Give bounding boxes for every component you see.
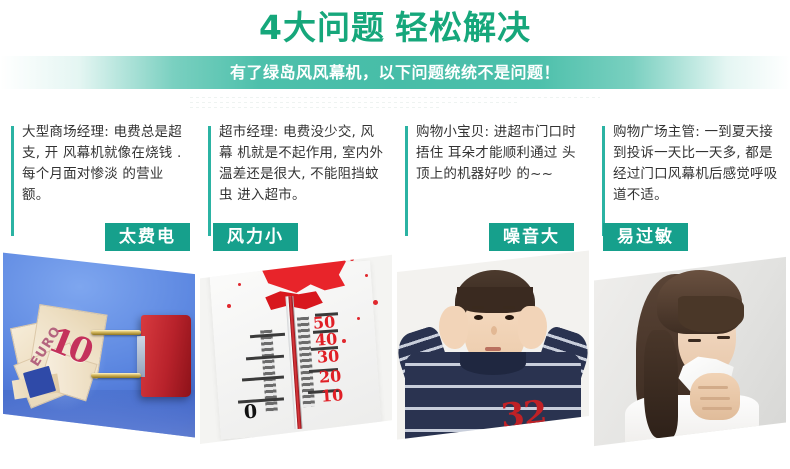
boy-shirt-collar <box>460 352 525 376</box>
page-title: 4大问题轻松解决 <box>0 6 790 50</box>
boy-eye-left <box>474 315 483 320</box>
boy-eyebrow-right <box>503 306 515 309</box>
red-plug-body <box>141 315 191 397</box>
quote-text-2: 超市经理: 电费没少交, 风幕 机就是不起作用, 室内外温差还是很大, 不能阻挡… <box>219 122 385 206</box>
finger-line <box>700 397 731 400</box>
thermometer-with-red-splash-photo: 50 40 30 20 10 0 <box>200 244 392 459</box>
boy-covering-ears-photo: 32 <box>397 244 589 459</box>
photo-tile-3: 32 <box>397 244 589 459</box>
photo-tile-4 <box>594 244 786 459</box>
splash-droplet <box>254 266 256 268</box>
boy-eyebrow-left <box>472 306 484 309</box>
problem-column-1: 大型商场经理: 电费总是超支, 开 风幕机就像在烧钱 .每个月面对惨淡 的营业额… <box>0 118 197 469</box>
scale-label-20: 20 <box>318 366 342 387</box>
problem-column-4: 购物广场主管: 一到夏天接到投诉一天比一天多, 都是经过门口风幕机后感觉呼吸道不… <box>591 118 788 469</box>
column-rule-2 <box>208 126 211 236</box>
quote-text-1: 大型商场经理: 电费总是超支, 开 风幕机就像在烧钱 .每个月面对惨淡 的营业额… <box>22 122 188 206</box>
finger-line <box>698 386 729 389</box>
decorative-dashed-lines <box>190 97 600 115</box>
problem-column-2: 超市经理: 电费没少交, 风幕 机就是不起作用, 室内外温差还是很大, 不能阻挡… <box>197 118 394 469</box>
boy-eye-right <box>505 315 514 320</box>
page-title-secondary: 轻松解决 <box>395 8 531 47</box>
column-rule-4 <box>602 126 605 236</box>
euro-money-and-red-plug-photo: 10 EURO <box>3 244 195 459</box>
scale-label-30: 30 <box>316 346 340 367</box>
dashed-line-1 <box>190 97 600 98</box>
quote-text-4: 购物广场主管: 一到夏天接到投诉一天比一天多, 都是经过门口风幕机后感觉呼吸道不… <box>613 122 779 206</box>
boy-nose <box>491 326 497 335</box>
woman-hair-strand <box>644 330 679 438</box>
shirt-number: 32 <box>499 393 548 437</box>
scale-label-0: 0 <box>243 401 258 424</box>
woman-fringe <box>678 296 743 333</box>
promo-page: 4大问题轻松解决 有了绿岛风风幕机，以下问题统统不是问题！ 大型商场经理: 电费… <box>0 0 790 469</box>
boy-mouth <box>485 347 501 351</box>
plug-collar <box>137 336 145 377</box>
plug-pin-bottom <box>91 373 141 378</box>
splash-droplet <box>342 339 346 343</box>
page-title-primary: 4大问题 <box>259 8 385 47</box>
photo-tile-1: 10 EURO <box>3 244 195 459</box>
scale-label-10: 10 <box>320 385 344 406</box>
photo-tile-2: 50 40 30 20 10 0 <box>200 244 392 459</box>
column-rule-3 <box>405 126 408 236</box>
subtitle-text: 有了绿岛风风幕机，以下问题统统不是问题！ <box>0 56 790 89</box>
plug-pin-top <box>91 330 141 335</box>
splash-droplet <box>373 300 378 305</box>
woman-eye-left <box>688 339 701 342</box>
dashed-line-3 <box>190 107 440 108</box>
woman-sneezing-into-tissue-photo <box>594 244 786 459</box>
boy-hand-left <box>439 306 468 349</box>
splash-droplet <box>350 257 354 261</box>
problem-columns: 大型商场经理: 电费总是超支, 开 风幕机就像在烧钱 .每个月面对惨淡 的营业额… <box>0 118 790 469</box>
finger-line <box>702 407 733 410</box>
dashed-line-2 <box>190 102 520 103</box>
problem-column-3: 购物小宝贝: 进超市门口时捂住 耳朵才能顺利通过 头顶上的机器好吵 的~~ 噪音… <box>394 118 591 469</box>
quote-text-3: 购物小宝贝: 进超市门口时捂住 耳朵才能顺利通过 头顶上的机器好吵 的~~ <box>416 122 582 185</box>
woman-eye-right <box>717 336 730 339</box>
column-rule-1 <box>11 126 14 236</box>
